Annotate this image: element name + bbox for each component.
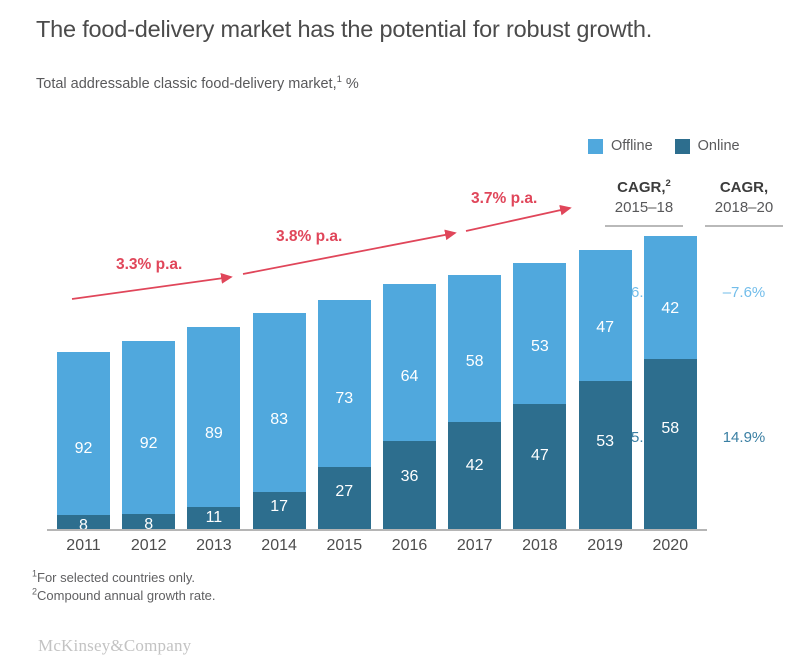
cagr-column-1-period: 2015–18 <box>600 198 688 218</box>
cagr-column-2-divider <box>705 225 783 227</box>
growth-arrow-3 <box>466 208 570 231</box>
bar-segment-online-2017[interactable] <box>448 422 501 529</box>
x-axis-tick-2018: 2018 <box>513 537 566 555</box>
bar-group-2015[interactable]: 7327 <box>318 300 371 529</box>
growth-arrow-1 <box>72 277 231 299</box>
chart-subtitle-unit: % <box>342 76 359 92</box>
bar-segment-offline-2016[interactable] <box>383 284 436 441</box>
footnote-1: 1For selected countries only. <box>32 569 216 587</box>
bar-segment-offline-2012[interactable] <box>122 341 175 514</box>
cagr-column-1-title: CAGR,2 <box>600 178 688 198</box>
bar-segment-offline-2014[interactable] <box>253 313 306 492</box>
growth-arrow-label-3: 3.7% p.a. <box>471 190 537 208</box>
bar-label-offline-2011: 92 <box>57 440 110 458</box>
bar-segment-online-2019[interactable] <box>579 381 632 529</box>
bar-label-online-2016: 36 <box>383 468 436 486</box>
bar-segment-online-2013[interactable] <box>187 507 240 529</box>
bar-group-2020[interactable]: 4258 <box>644 236 697 529</box>
bar-group-2018[interactable]: 5347 <box>513 263 566 529</box>
chart-legend: Offline Online <box>588 138 740 154</box>
x-axis-tick-2011: 2011 <box>57 537 110 555</box>
cagr-column-2-title-text: CAGR, <box>720 179 768 196</box>
bar-label-online-2017: 42 <box>448 457 501 475</box>
chart-subtitle: Total addressable classic food-delivery … <box>36 74 636 94</box>
bar-label-offline-2019: 47 <box>579 319 632 337</box>
x-axis-tick-2019: 2019 <box>579 537 632 555</box>
bar-label-offline-2020: 42 <box>644 300 697 318</box>
cagr-column-2-period: 2018–20 <box>700 198 788 218</box>
bar-label-online-2015: 27 <box>318 483 371 501</box>
cagr-column-1-footnote-marker: 2 <box>666 178 671 189</box>
x-axis-tick-2020: 2020 <box>644 537 697 555</box>
legend-item-online[interactable]: Online <box>675 138 740 154</box>
bar-group-2017[interactable]: 5842 <box>448 275 501 529</box>
cagr-column-2015-18: CAGR,2 2015–18 <box>600 178 688 227</box>
legend-swatch-online <box>675 139 690 154</box>
cagr-offline-2018-20: –7.6% <box>700 284 788 301</box>
bar-label-online-2018: 47 <box>513 447 566 465</box>
growth-arrow-label-1: 3.3% p.a. <box>116 256 182 274</box>
bar-label-offline-2017: 58 <box>448 353 501 371</box>
x-axis-tick-2013: 2013 <box>187 537 240 555</box>
bar-label-offline-2012: 92 <box>122 435 175 453</box>
cagr-column-2-title: CAGR, <box>700 178 788 198</box>
bar-group-2011[interactable]: 928 <box>57 352 110 529</box>
legend-swatch-offline <box>588 139 603 154</box>
bar-group-2012[interactable]: 928 <box>122 341 175 529</box>
bar-label-online-2011: 8 <box>57 517 110 535</box>
bar-chart-plot: 9282011928201289112013831720147327201564… <box>0 0 800 663</box>
footnote-2-text: Compound annual growth rate. <box>37 588 216 603</box>
footnotes: 1For selected countries only. 2Compound … <box>32 569 216 605</box>
bar-group-2016[interactable]: 6436 <box>383 284 436 529</box>
bar-group-2014[interactable]: 8317 <box>253 313 306 529</box>
bar-segment-offline-2011[interactable] <box>57 352 110 515</box>
bar-label-offline-2015: 73 <box>318 390 371 408</box>
mckinsey-logo: McKinsey&Company <box>38 636 191 656</box>
bar-segment-online-2015[interactable] <box>318 467 371 529</box>
footnote-2: 2Compound annual growth rate. <box>32 587 216 605</box>
cagr-online-2015-18: 25.0% <box>600 429 688 446</box>
cagr-online-2018-20: 14.9% <box>700 429 788 446</box>
chart-subtitle-text: Total addressable classic food-delivery … <box>36 76 337 92</box>
bar-segment-online-2011[interactable] <box>57 515 110 529</box>
growth-arrow-2 <box>243 233 455 274</box>
bar-label-online-2012: 8 <box>122 516 175 534</box>
x-axis-tick-2014: 2014 <box>253 537 306 555</box>
bar-group-2013[interactable]: 8911 <box>187 327 240 529</box>
bar-segment-offline-2015[interactable] <box>318 300 371 467</box>
x-axis-tick-2017: 2017 <box>448 537 501 555</box>
bar-label-online-2013: 11 <box>187 509 240 527</box>
bar-label-offline-2014: 83 <box>253 411 306 429</box>
cagr-column-2018-20: CAGR, 2018–20 <box>700 178 788 227</box>
bar-segment-offline-2017[interactable] <box>448 275 501 422</box>
cagr-column-1-title-text: CAGR, <box>617 179 665 196</box>
x-axis-tick-2012: 2012 <box>122 537 175 555</box>
bar-label-offline-2016: 64 <box>383 368 436 386</box>
page-title: The food-delivery market has the potenti… <box>36 14 776 44</box>
legend-label-online: Online <box>698 138 740 154</box>
cagr-offline-2015-18: –6.9% <box>600 284 688 301</box>
cagr-column-1-divider <box>605 225 683 227</box>
bar-label-offline-2018: 53 <box>513 338 566 356</box>
bar-segment-offline-2019[interactable] <box>579 250 632 381</box>
bar-segment-offline-2018[interactable] <box>513 263 566 404</box>
growth-arrow-layer <box>0 0 800 663</box>
bar-segment-online-2016[interactable] <box>383 441 436 529</box>
growth-arrow-label-2: 3.8% p.a. <box>276 228 342 246</box>
bar-segment-offline-2013[interactable] <box>187 327 240 507</box>
bar-label-offline-2013: 89 <box>187 425 240 443</box>
legend-label-offline: Offline <box>611 138 653 154</box>
bar-segment-online-2014[interactable] <box>253 492 306 529</box>
x-axis-baseline <box>47 529 707 531</box>
bar-label-online-2014: 17 <box>253 498 306 516</box>
bar-segment-online-2018[interactable] <box>513 404 566 529</box>
x-axis-tick-2016: 2016 <box>383 537 436 555</box>
chart-page: The food-delivery market has the potenti… <box>0 0 800 663</box>
x-axis-tick-2015: 2015 <box>318 537 371 555</box>
legend-item-offline[interactable]: Offline <box>588 138 653 154</box>
footnote-1-text: For selected countries only. <box>37 570 195 585</box>
bar-segment-online-2012[interactable] <box>122 514 175 529</box>
